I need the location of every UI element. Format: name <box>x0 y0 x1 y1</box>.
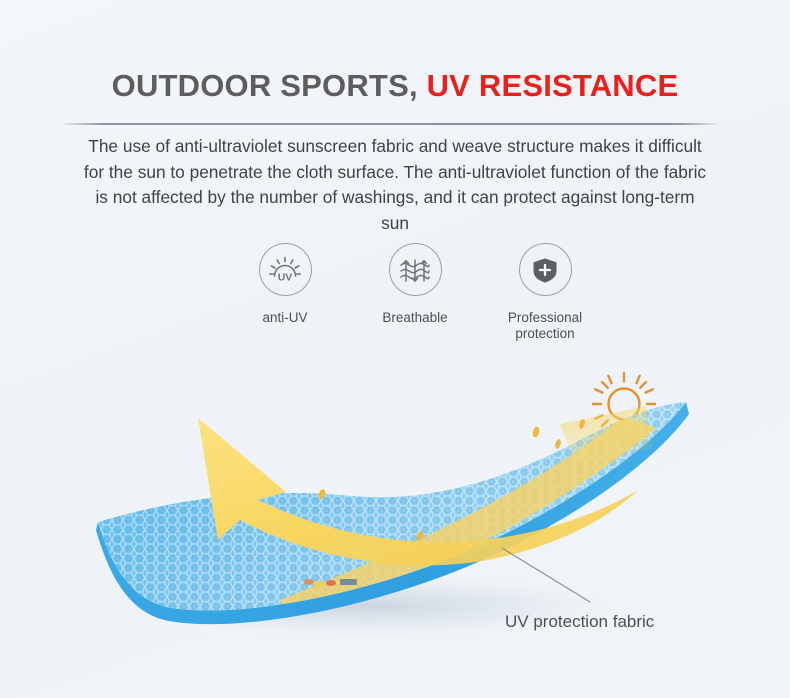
anti-uv-sun-icon: UV <box>259 243 312 296</box>
feature-label-protection: Professional protection <box>508 310 582 342</box>
feature-item-anti-uv: UV anti-UV <box>225 243 345 326</box>
feature-item-breathable: Breathable <box>355 243 475 326</box>
page-background: OUTDOOR SPORTS, UV RESISTANCE The use of… <box>0 0 790 698</box>
page-title: OUTDOOR SPORTS, UV RESISTANCE <box>0 68 790 104</box>
title-divider <box>64 123 718 125</box>
feature-label-anti-uv: anti-UV <box>262 310 307 326</box>
feature-label-protection-line1: Professional <box>508 310 582 325</box>
feature-list: UV anti-UV <box>225 243 605 342</box>
feature-item-protection: Professional protection <box>485 243 605 342</box>
description-paragraph: The use of anti-ultraviolet sunscreen fa… <box>80 134 710 236</box>
page-title-accent: UV RESISTANCE <box>427 68 679 103</box>
fabric-caption: UV protection fabric <box>505 612 654 632</box>
svg-text:UV: UV <box>278 271 293 283</box>
shield-plus-icon <box>519 243 572 296</box>
breathable-airflow-icon <box>389 243 442 296</box>
feature-label-breathable: Breathable <box>382 310 447 326</box>
uv-protection-fabric-illustration <box>90 400 710 640</box>
page-title-primary: OUTDOOR SPORTS, <box>112 68 427 103</box>
feature-label-protection-line2: protection <box>515 326 574 341</box>
